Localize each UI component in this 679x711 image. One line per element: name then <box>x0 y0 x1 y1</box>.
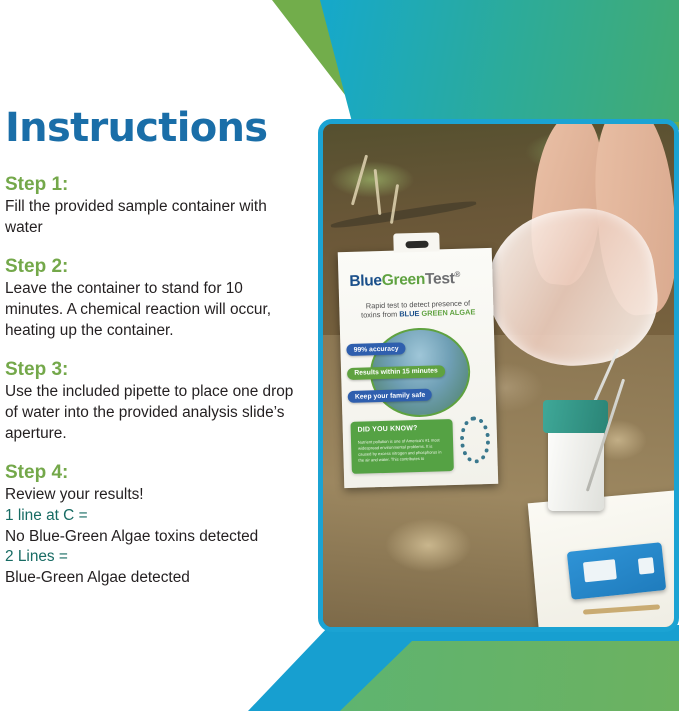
sample-container-cap <box>543 400 608 432</box>
step-3-body: Use the included pipette to place one dr… <box>5 382 305 444</box>
tagline-highlight-blue: BLUE <box>399 309 419 319</box>
tagline-highlight-green: GREEN ALGAE <box>421 308 475 319</box>
step-1-heading: Step 1: <box>5 174 305 196</box>
brand-registered-mark: ® <box>454 270 460 279</box>
cassette-result-window <box>583 559 617 581</box>
result-1-key: 1 line at C = <box>5 506 305 527</box>
did-you-know-panel: DID YOU KNOW? Nutrient pollution is one … <box>350 419 453 474</box>
step-1-body: Fill the provided sample container with … <box>5 197 305 239</box>
result-2-key: 2 Lines = <box>5 547 305 568</box>
brand-word-green: Green <box>381 271 425 289</box>
photo-test-cassette <box>566 542 665 599</box>
feature-badge-results-time: Results within 15 minutes <box>347 365 445 379</box>
step-4-body: Review your results! <box>5 485 305 506</box>
result-1-value: No Blue-Green Algae toxins detected <box>5 527 305 548</box>
page-title: Instructions <box>5 108 305 148</box>
brand-word-blue: Blue <box>349 272 382 290</box>
result-2-value: Blue-Green Algae detected <box>5 568 305 589</box>
product-carton: BlueGreenTest® Rapid test to detect pres… <box>337 248 498 489</box>
brand-word-test: Test <box>424 270 454 288</box>
did-you-know-body: Nutrient pollution is one of America's #… <box>357 437 445 463</box>
tagline-from: toxins from <box>361 310 397 320</box>
step-3-heading: Step 3: <box>5 359 305 381</box>
step-1: Step 1: Fill the provided sample contain… <box>5 174 305 239</box>
step-4: Step 4: Review your results! 1 line at C… <box>5 462 305 589</box>
feature-badge-family-safe: Keep your family safe <box>347 389 432 403</box>
did-you-know-title: DID YOU KNOW? <box>357 425 417 434</box>
top-teal-gradient-band <box>0 0 679 122</box>
step-2-heading: Step 2: <box>5 256 305 278</box>
instructions-infographic: Instructions Step 1: Fill the provided s… <box>0 0 679 711</box>
step-4-heading: Step 4: <box>5 462 305 484</box>
feature-badge-accuracy: 99% accuracy <box>346 342 405 355</box>
step-2-body: Leave the container to stand for 10 minu… <box>5 279 305 341</box>
cassette-sample-aperture <box>638 557 655 574</box>
instructions-column: Instructions Step 1: Fill the provided s… <box>5 108 305 606</box>
step-3: Step 3: Use the included pipette to plac… <box>5 359 305 445</box>
product-photo: BlueGreenTest® Rapid test to detect pres… <box>318 119 679 632</box>
certification-seal-icon <box>459 416 490 464</box>
product-tagline: Rapid test to detect presence of toxins … <box>348 297 487 320</box>
carton-hang-slot-icon <box>405 240 428 248</box>
brand-logo: BlueGreenTest® <box>349 269 485 291</box>
step-2: Step 2: Leave the container to stand for… <box>5 256 305 342</box>
